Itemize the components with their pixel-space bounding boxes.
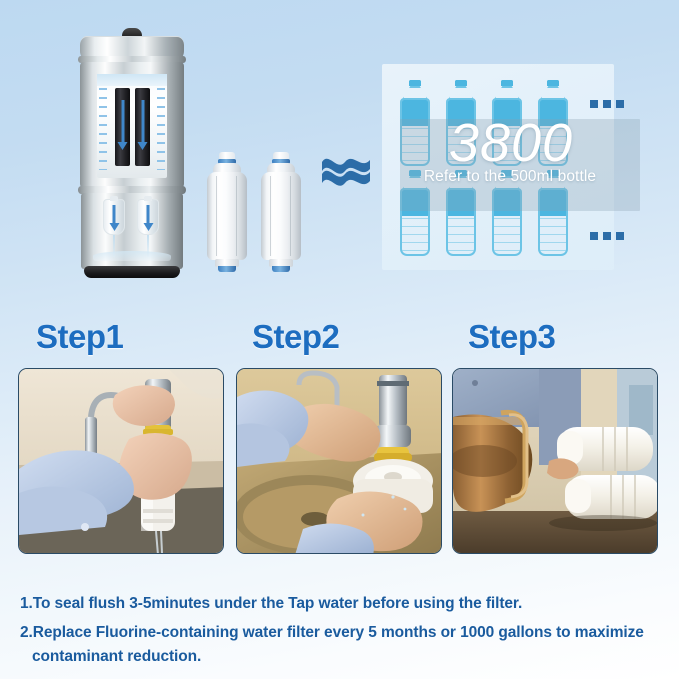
cartridge-body: [261, 172, 301, 260]
cartridge-body: [207, 172, 247, 260]
square-marker: [603, 100, 611, 108]
bottle-ribs: [540, 218, 566, 256]
square-marker: [616, 100, 624, 108]
step2-photo-attach-filter-to-faucet: [236, 368, 442, 554]
instructions-list: 1.To seal flush 3-5minutes under the Tap…: [20, 592, 668, 674]
step-heading-3: Step3: [468, 318, 555, 356]
flow-arrow-down-icon: [113, 205, 116, 223]
cartridge-rib: [270, 176, 271, 256]
bottle-ribs: [448, 218, 474, 256]
bottle-neck: [409, 80, 421, 86]
machine-base: [84, 266, 180, 278]
square-marker: [590, 100, 598, 108]
step-headings: Step1 Step2 Step3: [0, 318, 679, 366]
step1-photo-flush-filter-under-tap: [18, 368, 224, 554]
instruction-text-2-continuation: contaminant reduction.: [20, 645, 668, 668]
machine-lower-chamber: [81, 193, 183, 269]
flow-arrow-down-icon: [141, 100, 144, 142]
square-marker: [603, 232, 611, 240]
cartridge-bottom-blue-ring: [272, 266, 290, 272]
replacement-filter-cartridges: [206, 152, 308, 272]
instruction-item-2: 2.Replace Fluorine-containing water filt…: [20, 621, 668, 668]
square-markers-bottom: [590, 232, 624, 240]
capacity-number: 3800: [400, 116, 622, 170]
instruction-text-1: To seal flush 3-5minutes under the Tap w…: [33, 595, 522, 612]
instruction-item-1: 1.To seal flush 3-5minutes under the Tap…: [20, 592, 668, 615]
machine-carbon-element-1: [115, 88, 130, 166]
machine-water-level: [97, 74, 167, 86]
gravity-water-filter-machine: [76, 28, 188, 280]
cartridge-rib: [290, 176, 291, 256]
flow-arrow-down-icon: [121, 100, 124, 142]
cartridge-bottom-blue-ring: [218, 266, 236, 272]
machine-scale-right: [157, 88, 165, 170]
infographic-page: 3800 Refer to the 500ml bottle Step1 Ste…: [0, 0, 679, 679]
step-heading-1: Step1: [36, 318, 123, 356]
cartridge-neck: [144, 196, 152, 201]
cartridge-rib: [236, 176, 237, 256]
machine-upper-chamber: [80, 62, 184, 188]
bottle-ribs: [402, 218, 428, 256]
bottle-neck: [547, 80, 559, 86]
square-marker: [616, 232, 624, 240]
flow-arrow-down-icon: [147, 205, 150, 223]
cartridge-rib: [216, 176, 217, 256]
instruction-number-2: 2.: [20, 624, 33, 641]
square-marker: [590, 232, 598, 240]
machine-filter-chamber: [97, 74, 167, 178]
square-markers-top: [590, 100, 624, 108]
capacity-comparison-section: 3800 Refer to the 500ml bottle: [0, 0, 679, 300]
machine-scale-left: [99, 88, 107, 170]
bottle-capacity-panel: 3800 Refer to the 500ml bottle: [382, 64, 614, 270]
machine-filter-cartridge-2: [137, 199, 159, 235]
collected-water-pool: [93, 251, 171, 261]
bottle-neck: [501, 80, 513, 86]
cartridge-neck: [110, 196, 118, 201]
filter-cartridge-left: [206, 152, 248, 272]
bottle-neck: [455, 80, 467, 86]
instruction-text-2: Replace Fluorine-containing water filter…: [33, 624, 644, 641]
capacity-reference-text: Refer to the 500ml bottle: [394, 168, 626, 186]
machine-carbon-element-2: [135, 88, 150, 166]
step3-photo-replacement-filters: [452, 368, 658, 554]
filter-cartridge-right: [260, 152, 302, 272]
approximately-equals-wave-icon: [320, 148, 372, 194]
instruction-number-1: 1.: [20, 595, 33, 612]
bottle-ribs: [494, 218, 520, 256]
step-photos: [0, 368, 679, 558]
machine-filter-cartridge-1: [103, 199, 125, 235]
step-heading-2: Step2: [252, 318, 339, 356]
